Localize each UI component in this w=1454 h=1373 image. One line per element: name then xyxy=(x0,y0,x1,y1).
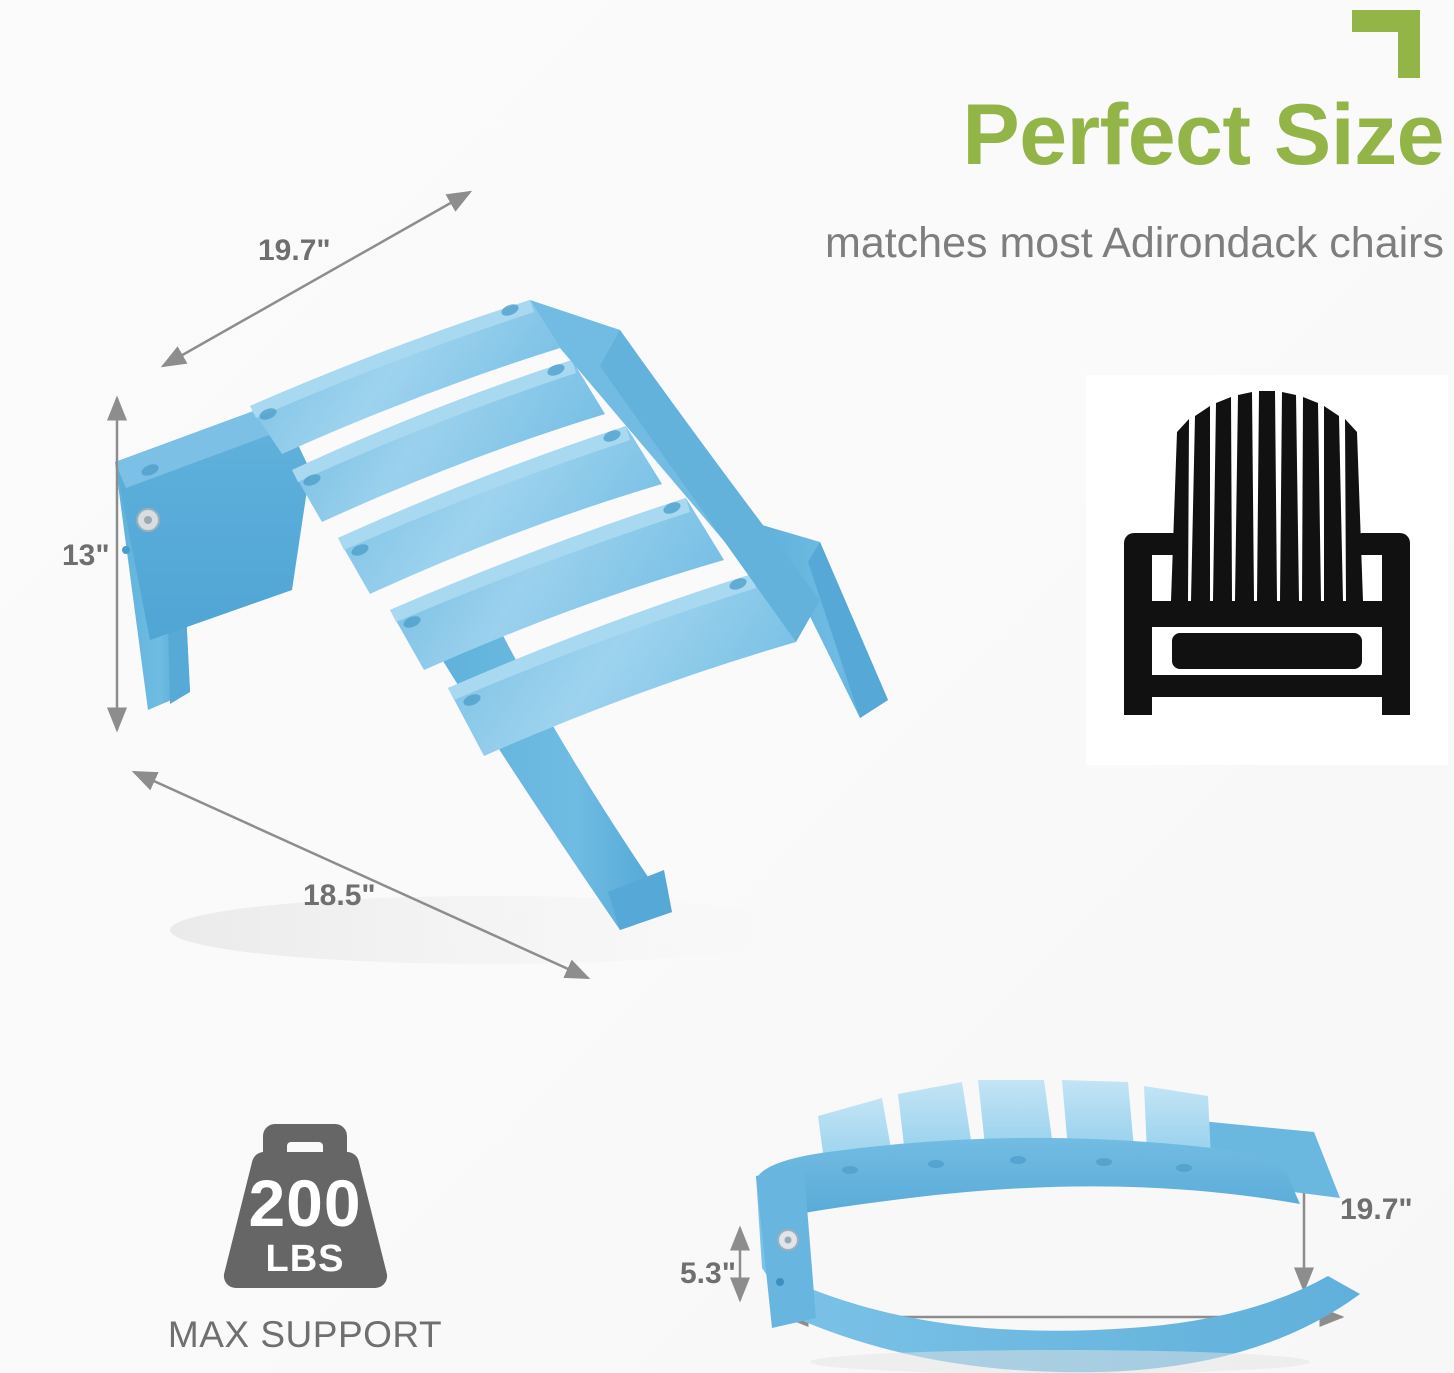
dimension-label-depth: 18.5" xyxy=(303,879,376,913)
dimension-label-height: 13" xyxy=(62,539,110,573)
adirondack-chair-silhouette-icon xyxy=(1086,375,1448,765)
weight-unit: LBS xyxy=(205,1240,405,1278)
ottoman-folded-image xyxy=(700,1080,1454,1373)
max-support-caption: MAX SUPPORT xyxy=(150,1314,460,1356)
weight-icon: 200 LBS xyxy=(205,1118,405,1296)
dimension-label-width-top: 19.7" xyxy=(258,234,331,268)
page-title: Perfect Size xyxy=(744,92,1444,178)
weight-value: 200 xyxy=(205,1170,405,1236)
product-infographic: Perfect Size matches most Adirondack cha… xyxy=(0,0,1454,1373)
corner-bracket-icon xyxy=(1350,8,1422,80)
max-support-badge: 200 LBS MAX SUPPORT xyxy=(150,1118,460,1368)
ottoman-hero-image xyxy=(60,170,960,1000)
chair-reference-panel xyxy=(1086,375,1448,765)
